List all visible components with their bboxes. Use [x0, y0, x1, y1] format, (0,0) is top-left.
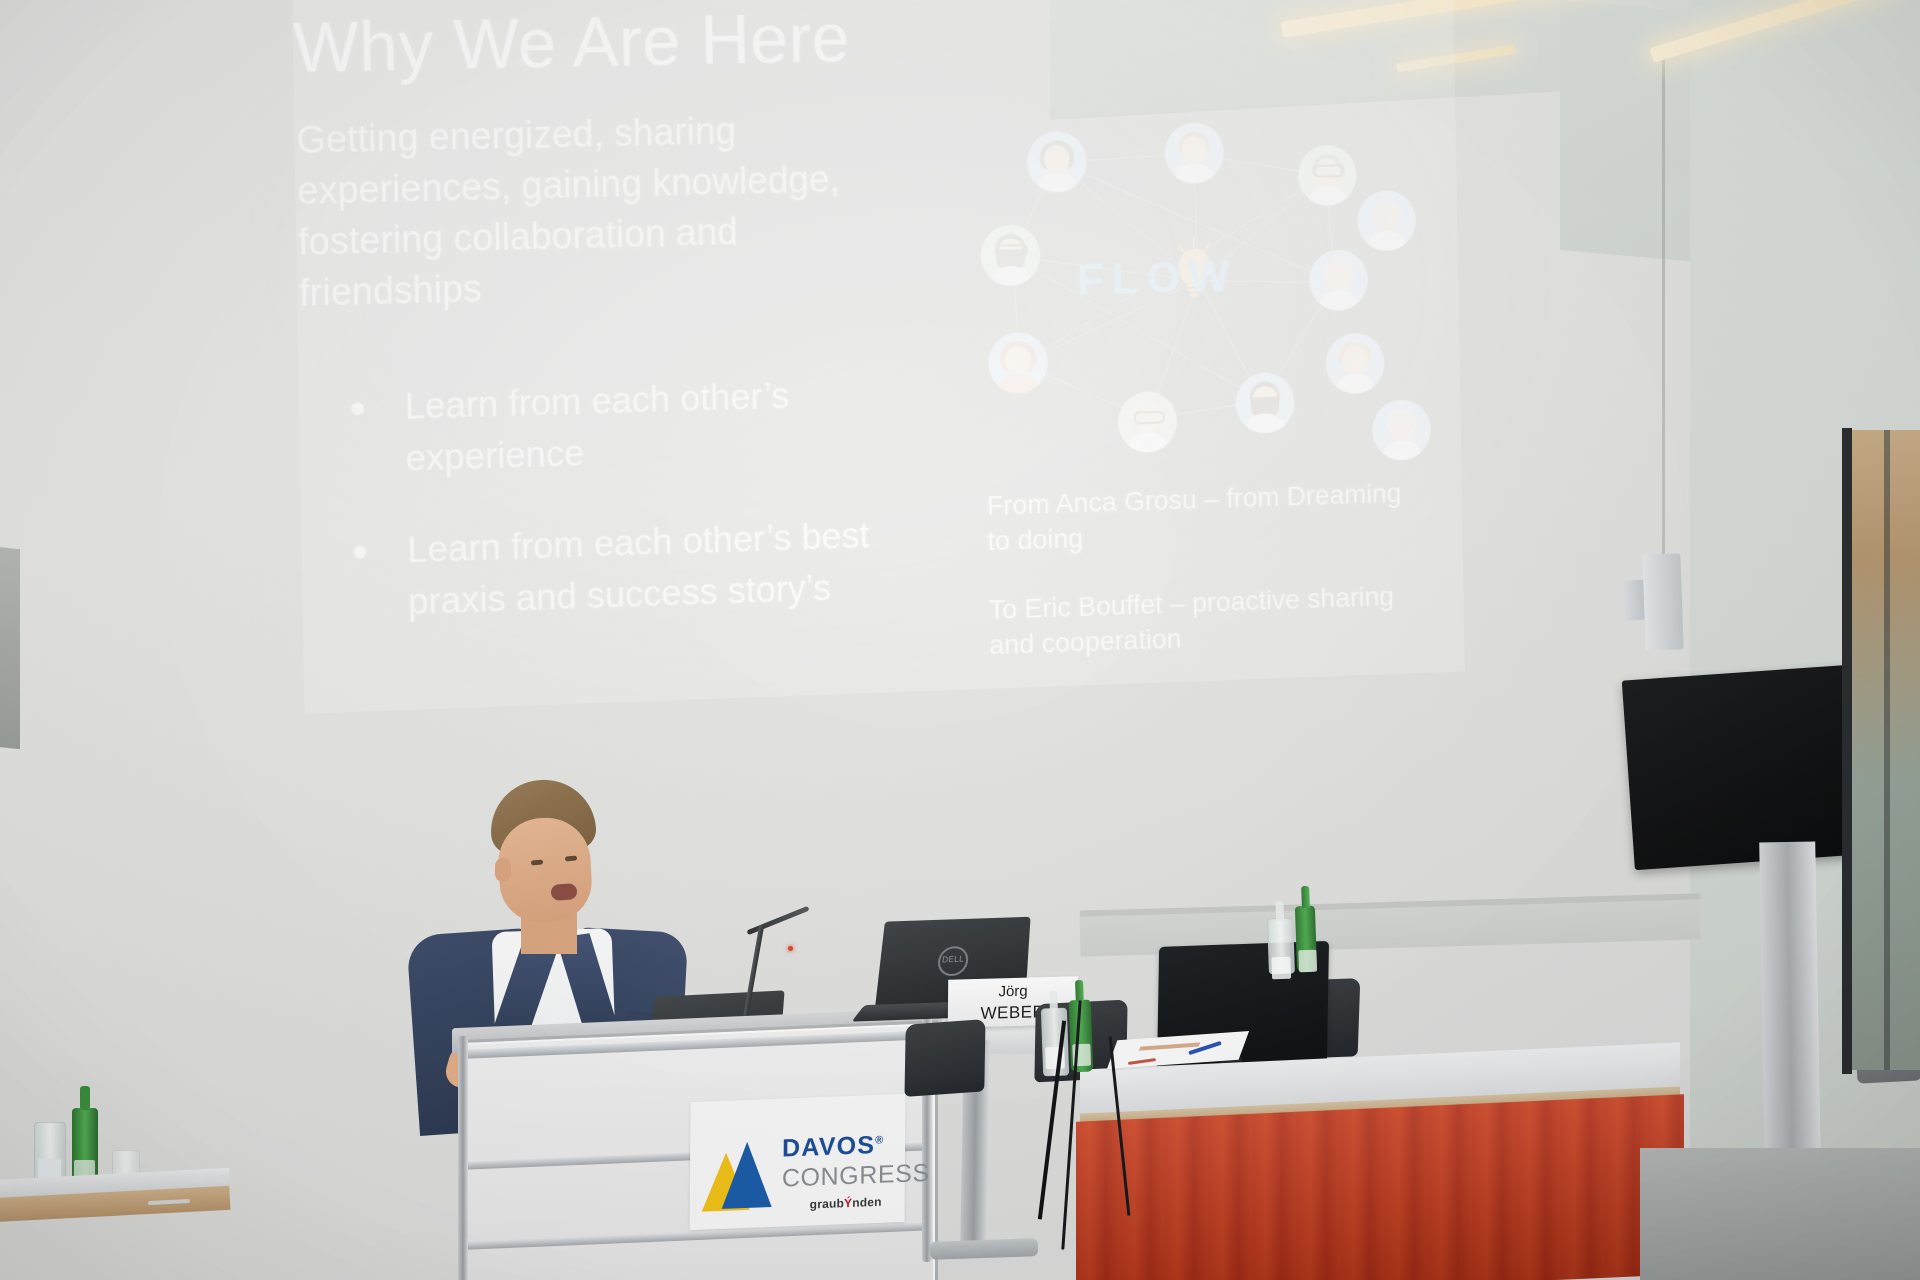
slide-bullet-text: Learn from each other’s experience: [404, 375, 789, 478]
davos-congress-logo: DAVOS® CONGRESS graubÝnden: [690, 1094, 906, 1230]
flow-avatar-icon: [1372, 399, 1431, 461]
slide-bullet-item: Learn from each other’s experience: [343, 366, 952, 487]
water-bottle-clear: [1041, 1008, 1069, 1077]
microphone-led-icon: [788, 946, 793, 951]
slide-bullet-item: Learn from each other’s best praxis and …: [345, 507, 954, 630]
flow-network-graphic: FLOW: [941, 91, 1404, 474]
podium-post: [458, 1036, 468, 1280]
flow-avatar-icon: [1357, 190, 1416, 252]
water-bottle-clear: [1267, 918, 1295, 975]
ear: [495, 858, 511, 882]
slide-lead-paragraph: Getting energized, sharing experiences, …: [296, 103, 927, 320]
slide-note-line: From Anca Grosu – from Dreaming to doing: [987, 476, 1407, 560]
graubunden-suffix: nden: [852, 1195, 882, 1210]
left-wall-panel: [0, 547, 20, 750]
logo-text-davos: DAVOS: [782, 1131, 875, 1163]
window-mullion: [1884, 430, 1890, 1070]
bullet-dot-icon: [353, 546, 366, 559]
dell-logo-icon: DELL: [937, 946, 970, 977]
bullet-dot-icon: [351, 402, 364, 415]
slide-notes-block: From Anca Grosu – from Dreaming to doing…: [987, 476, 1409, 697]
logo-line-graubunden: graubÝnden: [810, 1195, 882, 1212]
mountain-triangle-icon: [702, 1137, 777, 1212]
display-stand-column: [1759, 842, 1821, 1163]
graubunden-prefix: graub: [810, 1196, 844, 1211]
head-table-red-skirt: [1076, 1094, 1684, 1280]
window-frame: [1842, 428, 1852, 1074]
projected-slide: Why We Are Here Getting energized, shari…: [292, 0, 1465, 714]
conference-chair: [904, 1019, 985, 1097]
slide-bullet-text: Learn from each other’s best praxis and …: [407, 515, 870, 622]
logo-line-congress: CONGRESS: [782, 1159, 930, 1194]
ibex-icon: Ý: [844, 1196, 852, 1210]
wall-speaker: [1642, 553, 1683, 650]
floor: [1640, 1148, 1920, 1280]
logo-line-davos: DAVOS®: [782, 1131, 885, 1164]
water-bottle-green: [1295, 906, 1317, 973]
logo-trademark: ®: [875, 1134, 884, 1146]
slide-title: Why We Are Here: [292, 0, 850, 88]
flow-center-word: FLOW: [1077, 251, 1238, 306]
slide-note-line: To Eric Bouffet – proactive sharing and …: [988, 578, 1408, 663]
side-table-foot: [930, 1238, 1039, 1260]
presentation-room-photo: Why We Are Here Getting energized, shari…: [0, 0, 1920, 1280]
triangle-blue-icon: [722, 1141, 772, 1209]
mouth: [550, 883, 577, 901]
slide-bullet-list: Learn from each other’s experience Learn…: [343, 366, 955, 670]
wall-corner-edge: [1662, 60, 1665, 620]
